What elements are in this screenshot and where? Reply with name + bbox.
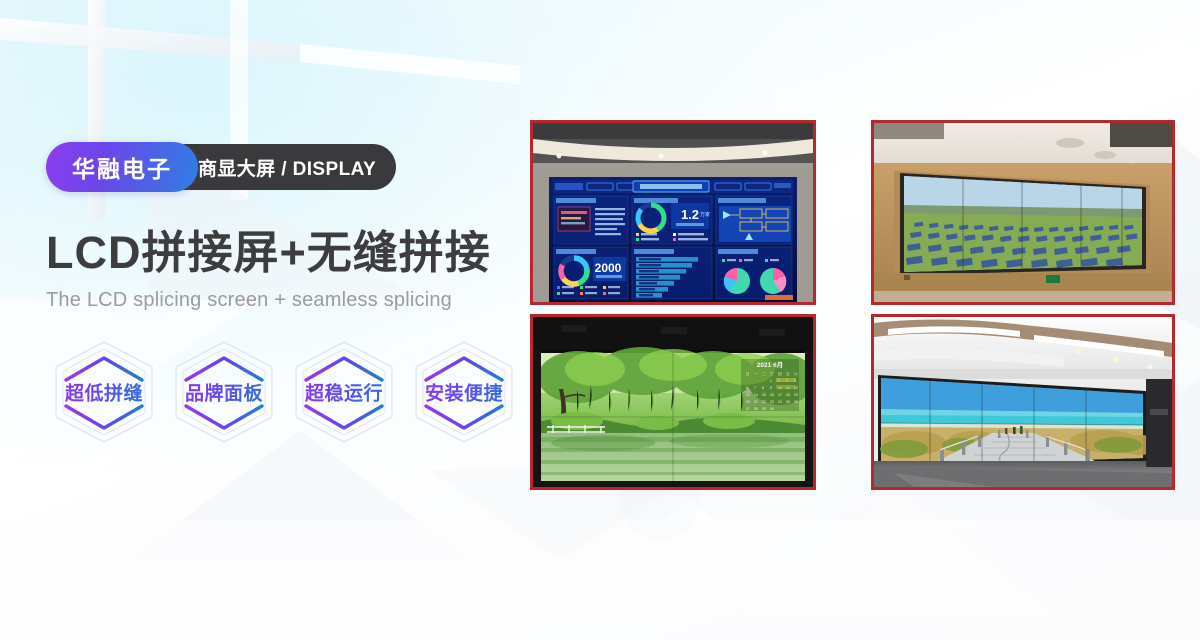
svg-text:16: 16 [770, 393, 774, 397]
svg-text:28: 28 [754, 407, 758, 411]
brand-badge: 华融电子 [46, 142, 198, 192]
photo-inner [874, 317, 1172, 487]
svg-text:17: 17 [778, 393, 782, 397]
svg-text:二: 二 [762, 372, 766, 376]
photo-inner: 2021 6月 日一二 三四五六 1234 6789 101112 131415… [533, 317, 813, 487]
svg-text:万家: 万家 [700, 211, 710, 218]
svg-text:18: 18 [786, 393, 790, 397]
svg-text:六: 六 [794, 371, 798, 376]
page-subtitle: The LCD splicing screen + seamless splic… [46, 289, 526, 312]
feature-badge: 超稳运行 [286, 336, 402, 448]
photo-willow-pond-video-wall: 2021 6月 日一二 三四五六 1234 6789 101112 131415… [530, 314, 816, 490]
promo-banner: 商显大屏 / DISPLAY 华融电子 LCD拼接屏+无缝拼接 The LCD … [0, 0, 1200, 640]
svg-text:8: 8 [762, 386, 764, 390]
svg-text:6: 6 [746, 386, 748, 390]
pond-scene: 2021 6月 日一二 三四五六 1234 6789 101112 131415… [533, 317, 813, 487]
photo-dashboard-video-wall: 1.2 万家 [530, 120, 816, 305]
svg-text:19: 19 [794, 393, 798, 397]
svg-text:26: 26 [794, 400, 798, 404]
feature-badge-label: 品牌面板 [166, 378, 282, 405]
svg-text:25: 25 [786, 400, 790, 404]
photo-inner [874, 123, 1172, 302]
svg-text:13: 13 [746, 393, 750, 397]
product-photo-grid: 1.2 万家 [530, 120, 1175, 490]
svg-text:2000: 2000 [595, 261, 622, 275]
feature-badge-label: 安装便捷 [406, 378, 522, 405]
svg-text:21: 21 [754, 400, 758, 404]
svg-text:五: 五 [786, 372, 790, 376]
svg-text:24: 24 [778, 400, 782, 404]
badge-row: 商显大屏 / DISPLAY 华融电子 [46, 142, 526, 192]
solar-farm-scene [874, 123, 1172, 302]
svg-text:15: 15 [762, 393, 766, 397]
dashboard-scene: 1.2 万家 [533, 123, 813, 302]
feature-badge-row: 超低拼缝 品牌面板 超稳运行 [46, 336, 526, 448]
page-title: LCD拼接屏+无缝拼接 [46, 230, 526, 277]
svg-text:1.2: 1.2 [681, 207, 699, 222]
svg-text:30: 30 [770, 407, 774, 411]
feature-badge: 超低拼缝 [46, 336, 162, 448]
svg-text:7: 7 [754, 386, 756, 390]
svg-text:29: 29 [762, 407, 766, 411]
feature-badge: 安装便捷 [406, 336, 522, 448]
svg-text:日: 日 [746, 372, 750, 376]
feature-badge-label: 超稳运行 [286, 378, 402, 405]
photo-inner: 1.2 万家 [533, 123, 813, 302]
svg-text:四: 四 [778, 372, 782, 376]
feature-badge: 品牌面板 [166, 336, 282, 448]
photo-beach-boardwalk-video-wall [871, 314, 1175, 490]
svg-text:一: 一 [754, 372, 758, 376]
svg-text:9: 9 [770, 386, 772, 390]
svg-text:14: 14 [754, 393, 758, 397]
svg-text:27: 27 [746, 407, 750, 411]
photo-solar-farm-video-wall [871, 120, 1175, 305]
feature-badge-label: 超低拼缝 [46, 378, 162, 405]
beach-scene [874, 317, 1172, 487]
banner-text-column: 商显大屏 / DISPLAY 华融电子 LCD拼接屏+无缝拼接 The LCD … [46, 142, 526, 448]
svg-text:23: 23 [770, 400, 774, 404]
svg-text:1: 1 [770, 379, 772, 383]
svg-text:22: 22 [762, 400, 766, 404]
svg-text:三: 三 [770, 372, 774, 376]
svg-text:20: 20 [746, 400, 750, 404]
svg-text:2021 6月: 2021 6月 [757, 361, 783, 369]
